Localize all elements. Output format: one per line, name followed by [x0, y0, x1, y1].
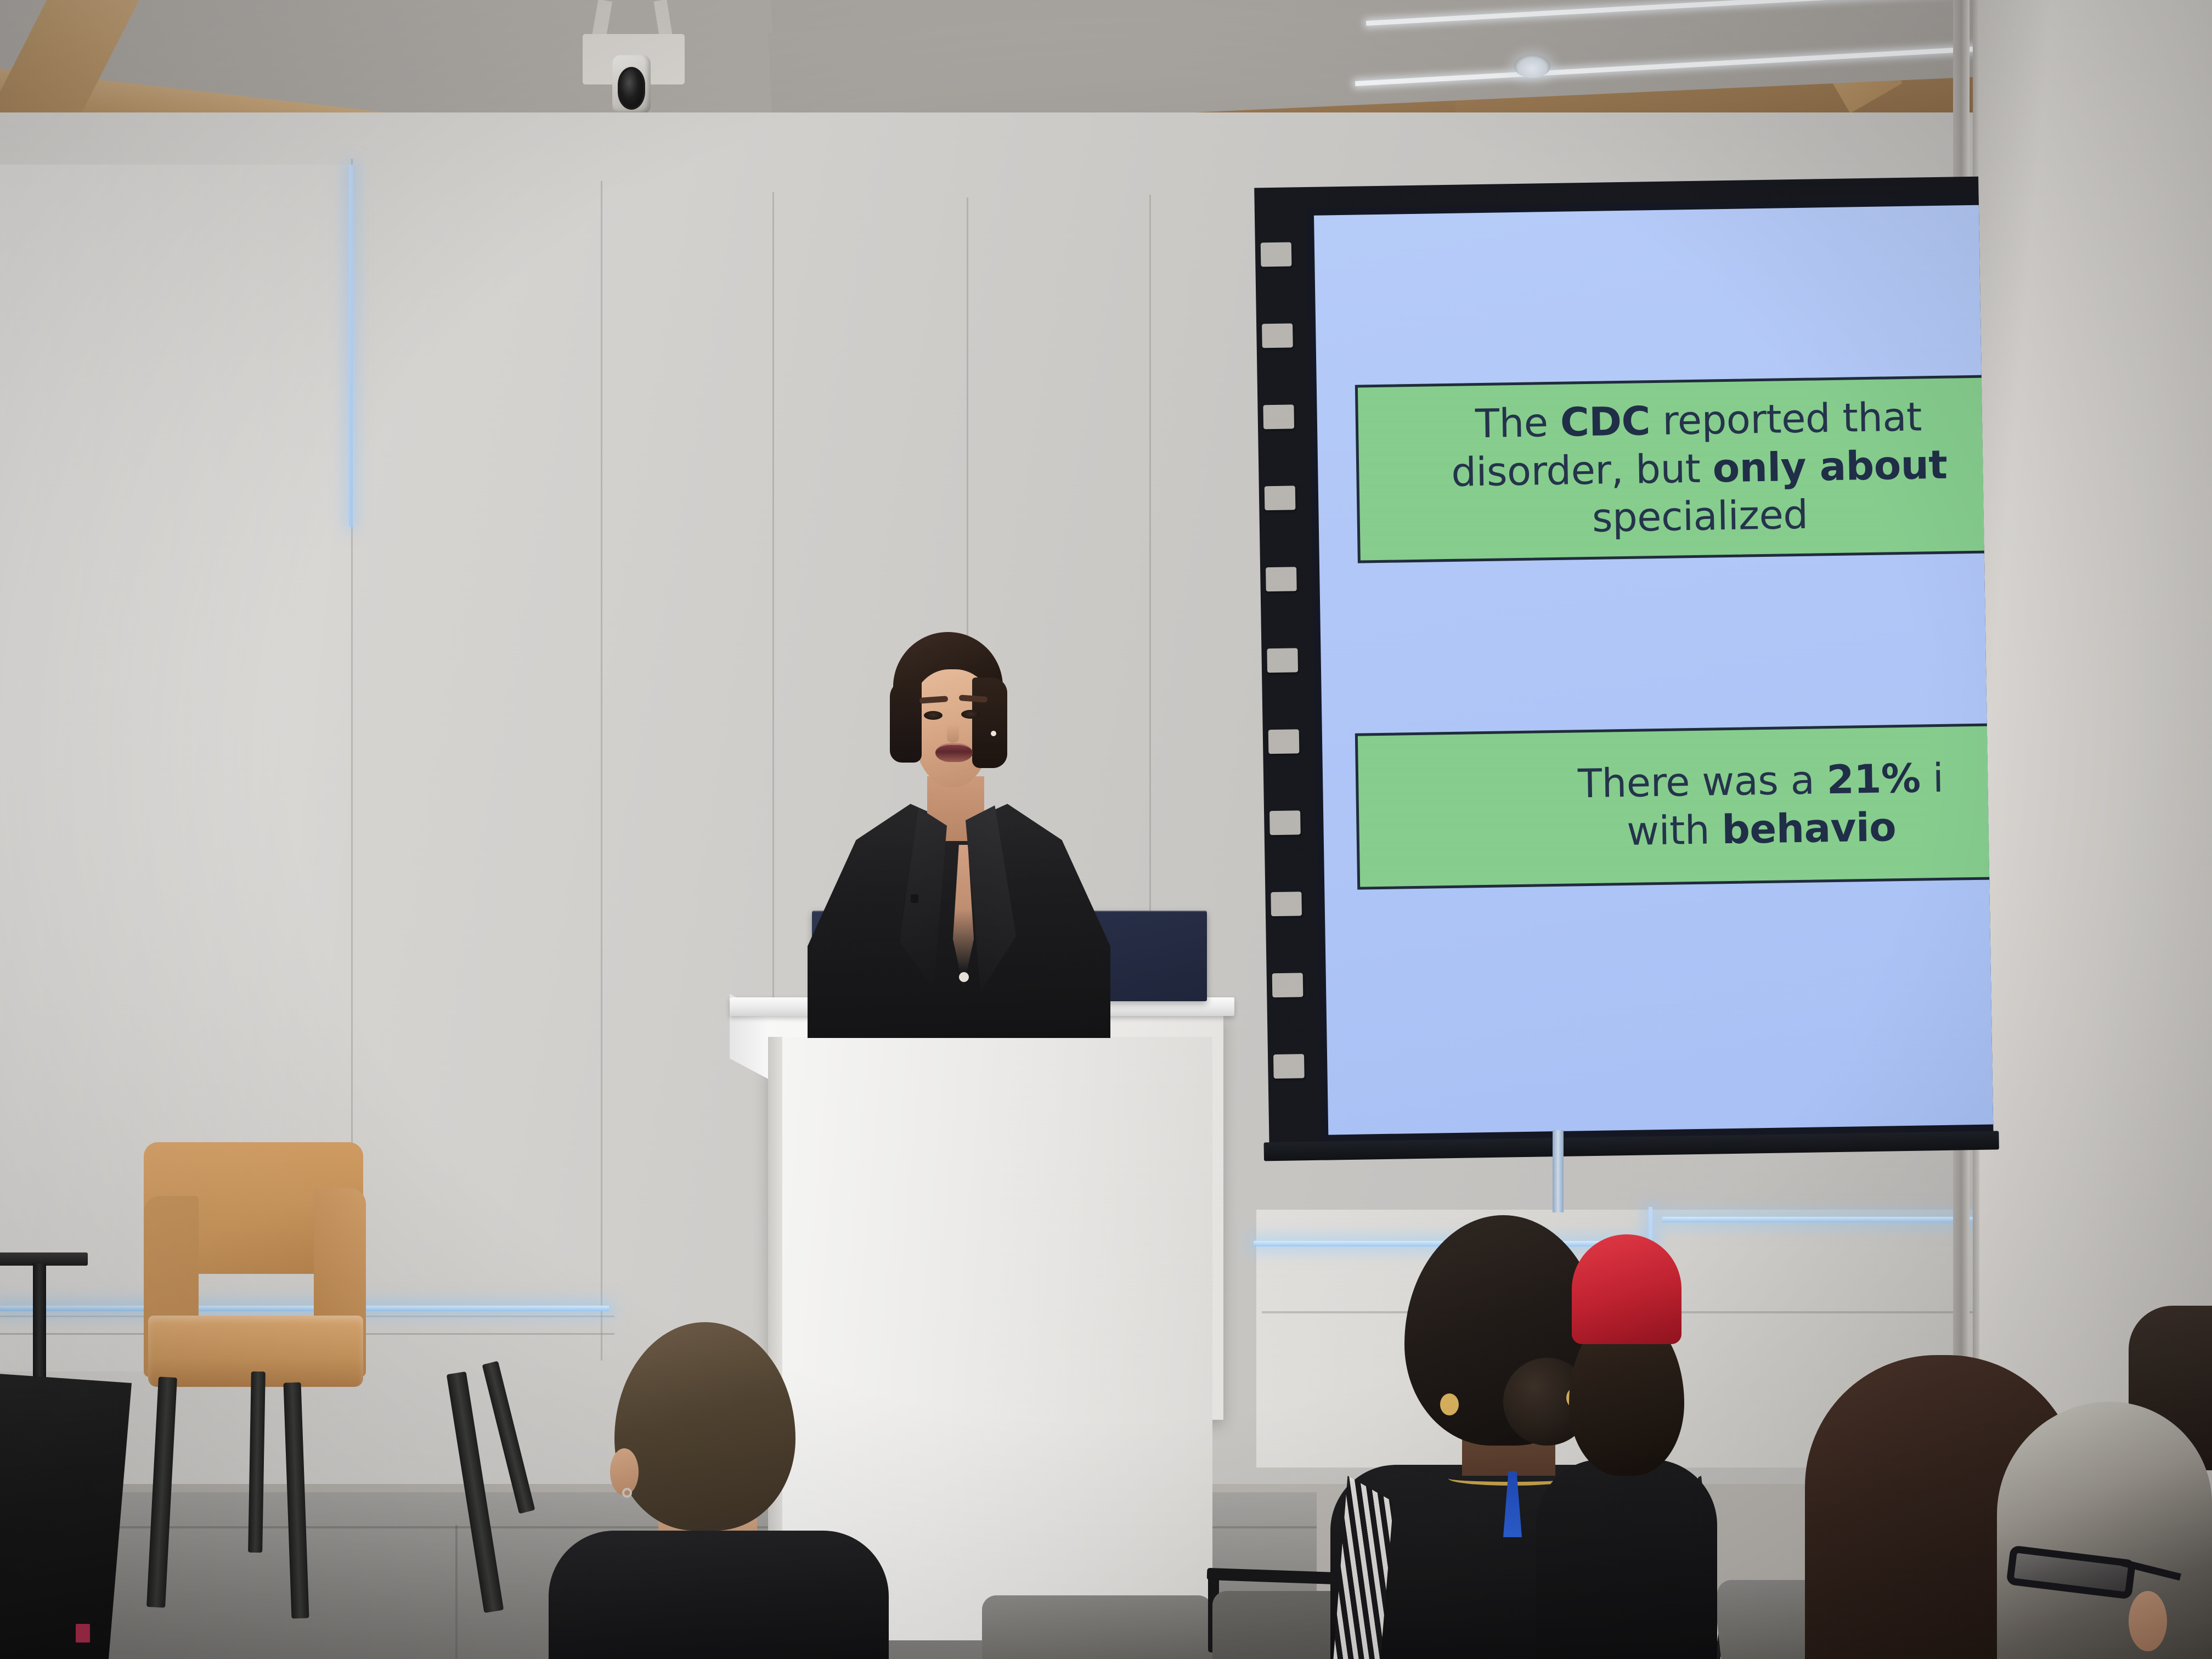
audience-person-1-body: [549, 1531, 889, 1659]
audience-person-1-earring-icon: [622, 1488, 632, 1498]
projector-screen: The CDC reported thatdisorder, but only …: [1255, 199, 1993, 1137]
speaker-eye-left: [924, 711, 943, 720]
side-table-stem: [33, 1263, 46, 1384]
screen-tension-tab: [1267, 648, 1298, 673]
drape-red-marker: [76, 1624, 90, 1643]
camera-lens-icon: [618, 67, 645, 110]
wall-seam-3: [772, 192, 774, 1037]
presentation-photo: The CDC reported thatdisorder, but only …: [0, 0, 2212, 1659]
screen-tension-tab: [1269, 810, 1301, 835]
audience-person-5-ear: [2129, 1591, 2167, 1651]
screen-tension-tab: [1272, 973, 1304, 997]
slide-band-cdc-text: The CDC reported thatdisorder, but only …: [1358, 391, 1993, 546]
screen-tension-tab: [1266, 567, 1297, 591]
wall-led-vertical-left: [349, 165, 353, 527]
slide-band-increase: There was a 21% iwith behavio: [1355, 723, 1993, 890]
screen-tension-tab: [1273, 1054, 1305, 1079]
slide-band-increase-text: There was a 21% iwith behavio: [1358, 753, 1993, 860]
speaker-hair-side-right: [972, 678, 1007, 768]
wall-seam-2: [601, 181, 602, 1361]
screen-support-post: [1553, 1130, 1564, 1212]
wall-led-horizontal-rear-right: [1662, 1217, 1997, 1222]
slide-surface: The CDC reported thatdisorder, but only …: [1314, 205, 1993, 1135]
screen-tension-tab: [1271, 891, 1302, 916]
speaker-lapel-mic-icon: [911, 894, 918, 903]
audience-person-2-earring-left-icon: [1440, 1393, 1459, 1415]
screen-tension-tab: [1262, 323, 1293, 348]
draped-equipment-cover: [0, 1372, 132, 1659]
speaker-nose: [947, 724, 959, 743]
ceiling-downlight: [1514, 55, 1550, 78]
speaker-eye-right: [961, 710, 980, 719]
floor-seam-2: [455, 1525, 458, 1659]
screen-tension-tab: [1263, 404, 1294, 429]
screen-tension-tab: [1265, 486, 1296, 510]
slide-band-cdc: The CDC reported thatdisorder, but only …: [1355, 374, 1993, 563]
speaker-hair-side-left: [890, 680, 922, 763]
audience-person-5-head: [1997, 1402, 2212, 1659]
screen-tension-tab: [1268, 729, 1300, 754]
speaker-earring-icon: [991, 731, 996, 736]
screen-tension-tab: [1261, 242, 1292, 267]
wall-led-horizontal-left: [0, 1306, 609, 1311]
audience-chair-left[interactable]: [982, 1595, 1212, 1659]
audience-person-3-red-cap: [1572, 1234, 1681, 1344]
speaker-blazer-button: [959, 972, 969, 982]
speaker-mouth: [935, 743, 973, 762]
audience-person-3-body: [1536, 1459, 1717, 1659]
